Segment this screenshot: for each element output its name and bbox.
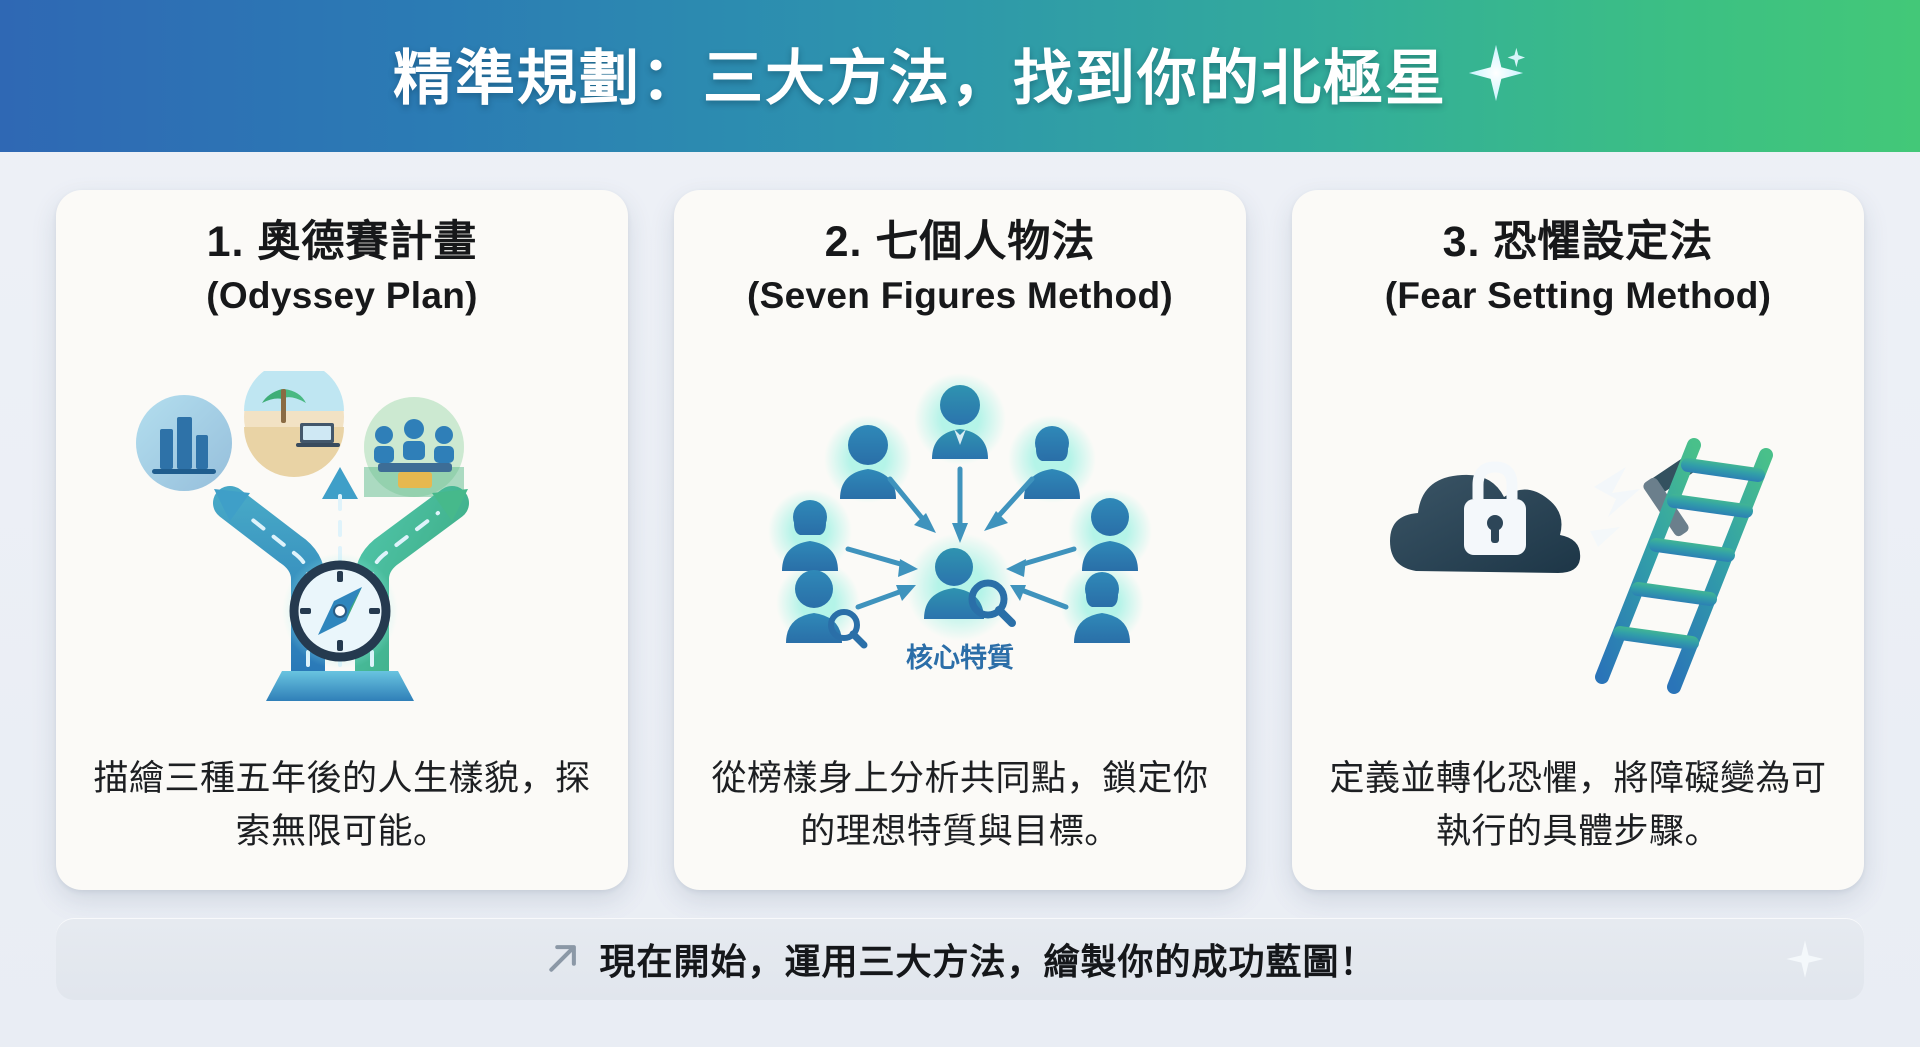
three-roads-compass-icon bbox=[122, 371, 562, 701]
infographic-page: 精準規劃：三大方法，找到你的北極星 1. 奧德賽計畫 (Odyssey Plan… bbox=[0, 0, 1920, 1047]
card-description: 從榜樣身上分析共同點，鎖定你的理想特質與目標。 bbox=[700, 752, 1220, 864]
card-subtitle: (Odyssey Plan) bbox=[206, 275, 478, 317]
card-title: 2. 七個人物法 bbox=[825, 218, 1096, 268]
card-title: 1. 奧德賽計畫 bbox=[207, 218, 478, 268]
illustration-seven-people-network: 核心特質 bbox=[700, 321, 1220, 752]
card-subtitle: (Fear Setting Method) bbox=[1385, 275, 1772, 317]
illustration-three-roads-compass bbox=[82, 321, 602, 752]
card-subtitle: (Seven Figures Method) bbox=[747, 275, 1173, 317]
cta-banner[interactable]: 現在開始，運用三大方法，繪製你的成功藍圖！ bbox=[56, 918, 1864, 1000]
illustration-cloud-lock-ladder bbox=[1318, 321, 1838, 752]
cta-content: 現在開始，運用三大方法，繪製你的成功藍圖！ bbox=[543, 933, 1376, 985]
card-odyssey-plan[interactable]: 1. 奧德賽計畫 (Odyssey Plan) bbox=[56, 190, 628, 890]
header-banner: 精準規劃：三大方法，找到你的北極星 bbox=[0, 0, 1920, 152]
seven-people-network-icon: 核心特質 bbox=[740, 371, 1180, 701]
sparkle-icon bbox=[1782, 936, 1828, 982]
card-description: 描繪三種五年後的人生樣貌，探索無限可能。 bbox=[82, 752, 602, 864]
cloud-lock-ladder-icon bbox=[1358, 371, 1798, 701]
card-title: 3. 恐懼設定法 bbox=[1443, 218, 1714, 268]
method-cards-row: 1. 奧德賽計畫 (Odyssey Plan) bbox=[56, 190, 1864, 890]
sparkle-icon bbox=[1465, 42, 1527, 104]
arrow-up-right-icon bbox=[543, 940, 581, 978]
card-fear-setting-method[interactable]: 3. 恐懼設定法 (Fear Setting Method) bbox=[1292, 190, 1864, 890]
illustration-core-trait-label: 核心特質 bbox=[906, 642, 1014, 673]
cta-text: 現在開始，運用三大方法，繪製你的成功藍圖！ bbox=[599, 933, 1376, 985]
page-title: 精準規劃：三大方法，找到你的北極星 bbox=[393, 30, 1447, 117]
card-seven-figures-method[interactable]: 2. 七個人物法 (Seven Figures Method) bbox=[674, 190, 1246, 890]
card-description: 定義並轉化恐懼，將障礙變為可執行的具體步驟。 bbox=[1318, 752, 1838, 864]
header-content: 精準規劃：三大方法，找到你的北極星 bbox=[393, 30, 1527, 123]
